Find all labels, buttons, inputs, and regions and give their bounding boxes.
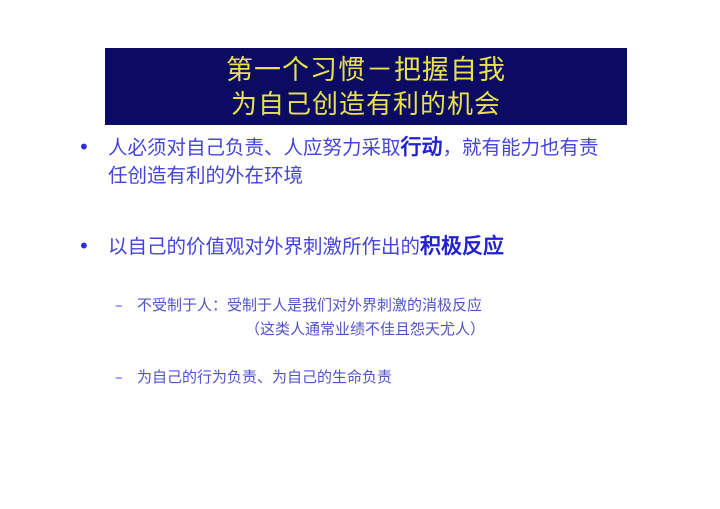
bullet-1-text: 人必须对自己负责、人应努力采取行动，就有能力也有责任创造有利的外在环境 bbox=[108, 133, 608, 190]
spacer-after-bullet-1 bbox=[0, 190, 720, 232]
bullet-item-2: • 以自己的价值观对外界刺激所作出的积极反应 bbox=[0, 232, 720, 261]
spacer-after-subbullet-1 bbox=[0, 341, 720, 365]
bullet-2-segment-a: 以自己的价值观对外界刺激所作出的 bbox=[108, 235, 420, 258]
bullet-item-1: • 人必须对自己负责、人应努力采取行动，就有能力也有责任创造有利的外在环境 bbox=[0, 133, 720, 190]
bullet-1-segment-a: 人必须对自己负责、人应努力采取 bbox=[108, 136, 401, 159]
slide-body: • 人必须对自己负责、人应努力采取行动，就有能力也有责任创造有利的外在环境 • … bbox=[0, 133, 720, 389]
subbullet-1-continuation: （这类人通常业绩不佳且怨天尤人） bbox=[0, 317, 720, 341]
spacer-after-bullet-2 bbox=[0, 261, 720, 293]
title-line-1: 第一个习惯－把握自我 bbox=[226, 54, 506, 88]
bullet-2-text: 以自己的价值观对外界刺激所作出的积极反应 bbox=[108, 232, 504, 261]
bullet-dot-icon: • bbox=[78, 232, 108, 260]
subbullet-2-text: 为自己的行为负责、为自己的生命负责 bbox=[137, 365, 392, 389]
slide-canvas: 第一个习惯－把握自我 为自己创造有利的机会 • 人必须对自己负责、人应努力采取行… bbox=[0, 0, 720, 509]
bullet-dot-icon: • bbox=[78, 133, 108, 161]
subbullet-item-2: – 为自己的行为负责、为自己的生命负责 bbox=[0, 365, 720, 389]
bullet-2-emphasis: 积极反应 bbox=[420, 233, 504, 258]
subbullet-1-text: 不受制于人：受制于人是我们对外界刺激的消极反应 bbox=[137, 293, 482, 317]
bullet-dash-icon: – bbox=[115, 293, 137, 317]
title-banner: 第一个习惯－把握自我 为自己创造有利的机会 bbox=[105, 48, 627, 125]
subbullet-item-1: – 不受制于人：受制于人是我们对外界刺激的消极反应 bbox=[0, 293, 720, 317]
bullet-dash-icon: – bbox=[115, 365, 137, 389]
title-line-2: 为自己创造有利的机会 bbox=[231, 88, 501, 122]
bullet-1-emphasis: 行动 bbox=[401, 134, 443, 159]
